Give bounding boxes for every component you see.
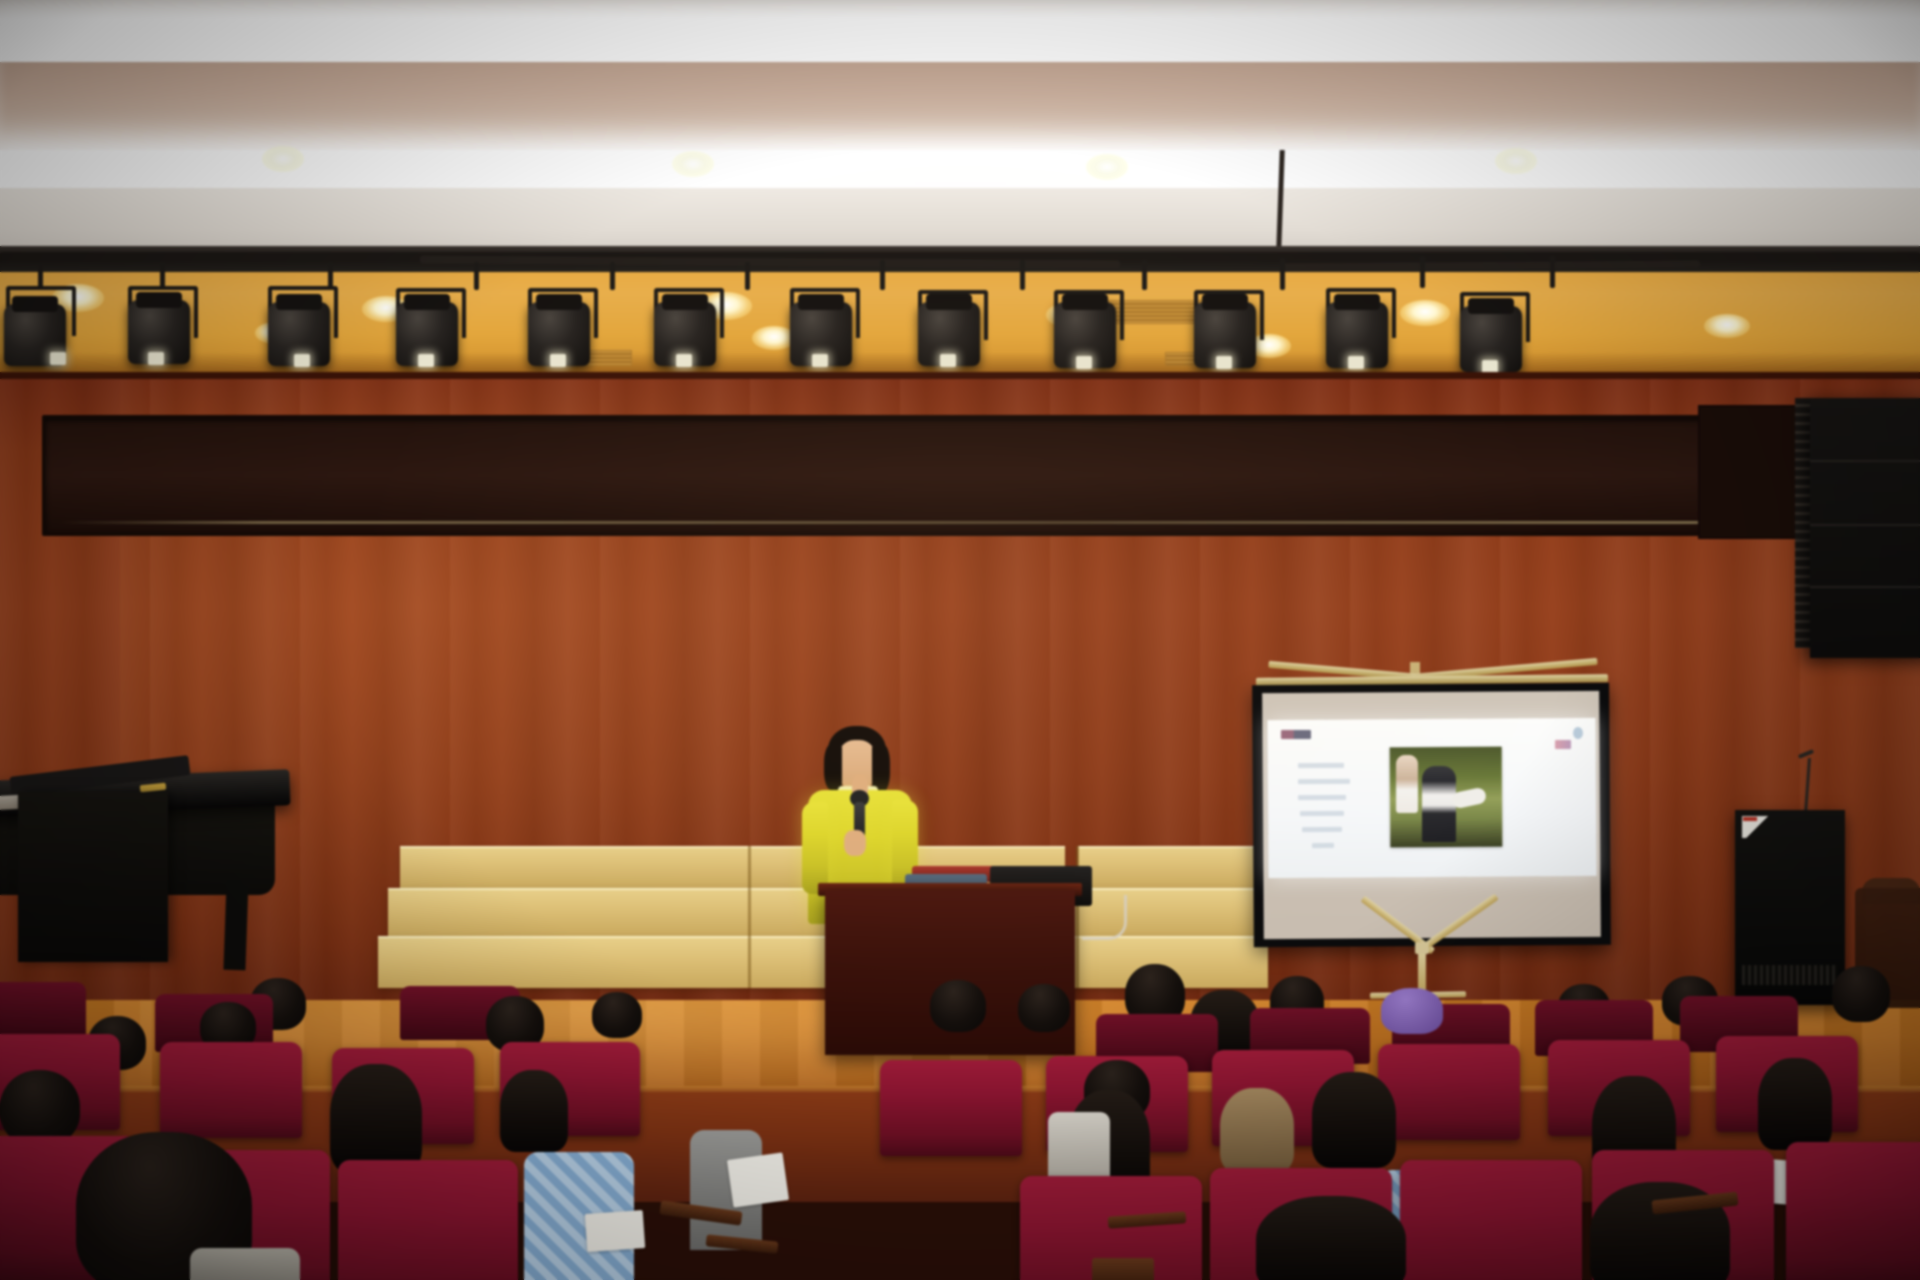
handout-paper — [727, 1152, 789, 1207]
audience-member — [1758, 1058, 1832, 1150]
tripod-hub — [1415, 942, 1429, 954]
right-wall-panel — [1698, 405, 1807, 539]
ceiling-downlight — [1495, 148, 1537, 174]
theater-seat — [1400, 1160, 1582, 1280]
audience-member — [1312, 1072, 1396, 1168]
dark-wall-panel-highlight — [60, 521, 1750, 524]
grand-piano-front — [18, 792, 168, 962]
presenter-hair-side — [872, 744, 890, 792]
wall-top-trim — [0, 372, 1920, 379]
riser-seam — [748, 846, 751, 988]
screen-hook — [1410, 662, 1420, 674]
audience-member-light-shirt — [1048, 1112, 1110, 1178]
theater-seat — [1378, 1044, 1520, 1140]
slide-logo-icon — [1573, 727, 1583, 739]
ceiling-downlight — [262, 146, 304, 172]
audience-member — [930, 980, 986, 1032]
handout-paper — [585, 1210, 646, 1252]
theater-seat — [160, 1042, 302, 1138]
audience-member — [1018, 984, 1070, 1032]
seat-armrest — [706, 1234, 779, 1253]
slide-title-text — [1281, 730, 1311, 739]
seat-armrest — [1092, 1258, 1154, 1280]
audience-member — [1256, 1196, 1406, 1280]
presenter-hand — [844, 830, 866, 856]
ceiling-light-cove — [0, 18, 1920, 66]
slide-body-line — [1298, 779, 1350, 784]
presenter-sleeve — [802, 802, 828, 894]
audience-member — [330, 1064, 422, 1174]
grand-piano-leg — [223, 880, 248, 971]
audience-member-shoulder — [190, 1248, 300, 1280]
theater-seat — [338, 1160, 518, 1280]
slide-body-line — [1298, 795, 1346, 800]
line-array-speaker — [1810, 398, 1920, 658]
audience-member-light-hair — [1220, 1088, 1294, 1174]
theater-seat — [880, 1060, 1022, 1156]
theater-seat — [0, 982, 86, 1040]
audience-member — [500, 1070, 568, 1152]
auditorium-scene — [0, 0, 1920, 1280]
audience-member — [0, 1070, 80, 1146]
speaker-led — [1743, 817, 1757, 821]
slide-body-line — [1298, 763, 1344, 768]
slide-photo-person — [1396, 755, 1418, 813]
slide-photo-person — [1422, 766, 1456, 842]
slide-annotation — [1555, 740, 1571, 749]
audience-area — [0, 1000, 1920, 1280]
slide-body-line — [1302, 827, 1342, 832]
presenter-hair-side — [824, 744, 842, 790]
theater-seat — [1786, 1142, 1920, 1280]
slide-body-line — [1300, 811, 1344, 816]
audience-member — [592, 992, 642, 1038]
ceiling-beam — [0, 62, 1920, 154]
soffit-downlight — [1704, 314, 1750, 338]
ceiling-downlight — [1086, 154, 1128, 180]
audience-member — [1832, 966, 1890, 1022]
dark-wall-panel — [42, 415, 1790, 536]
audience-member-purple-headwear — [1381, 988, 1443, 1034]
speaker-grill — [1742, 965, 1837, 985]
soffit-downlight — [1400, 300, 1450, 326]
slide-body-line — [1312, 843, 1334, 848]
ceiling-downlight — [672, 151, 714, 177]
choir-riser-tier — [1078, 846, 1260, 888]
cable — [1082, 895, 1127, 940]
